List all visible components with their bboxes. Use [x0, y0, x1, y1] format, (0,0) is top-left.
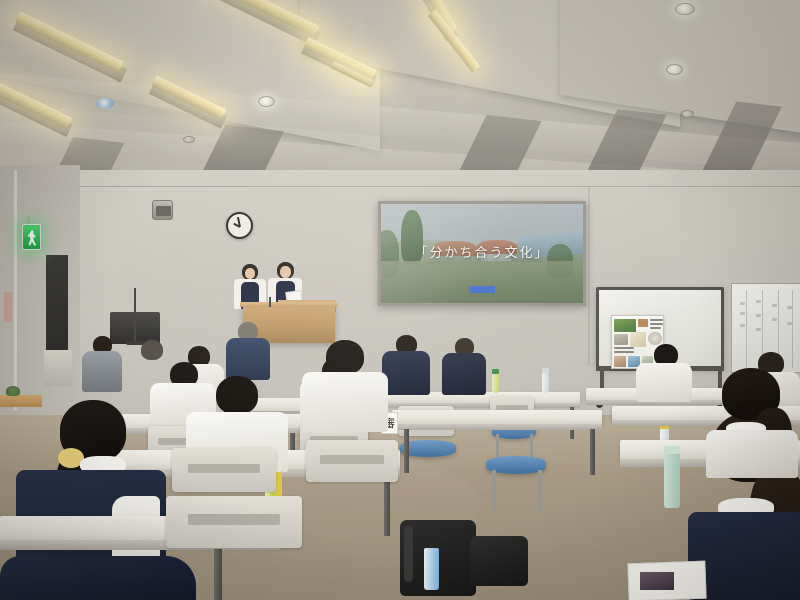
- potted-plant: [6, 386, 20, 396]
- wall-seam: [588, 186, 590, 366]
- poster-text-block: [614, 347, 634, 349]
- person-torso: [636, 363, 692, 402]
- classroom-presentation-photo: 「分かち合う文化」: [0, 0, 800, 600]
- floor-cabinet: [44, 350, 72, 386]
- whiteboard-writing: [772, 304, 777, 307]
- whiteboard-writing: [787, 306, 792, 309]
- wall-clock: [226, 212, 253, 239]
- stacking-chair[interactable]: [172, 448, 276, 492]
- emergency-exit-sign: [22, 224, 41, 250]
- stacking-chair[interactable]: [166, 496, 302, 548]
- foreground-shoulder: [0, 556, 196, 600]
- poster-photo: [638, 319, 648, 327]
- podium-top: [240, 302, 338, 307]
- person-torso: [226, 338, 270, 380]
- screen-glare: [381, 204, 583, 303]
- audience-student: [636, 344, 692, 402]
- table-leg: [384, 476, 390, 536]
- audience-student: [226, 322, 270, 380]
- water-bottle: [424, 548, 439, 590]
- mint-thermos: [664, 452, 680, 508]
- poster-text-block: [614, 351, 634, 353]
- whiteboard-writing: [756, 328, 761, 331]
- table-leg: [590, 429, 595, 475]
- seminar-table: [392, 410, 602, 425]
- audience-adult: [382, 335, 430, 395]
- chair-leg: [538, 470, 542, 512]
- person-torso: [382, 351, 430, 395]
- indicator-light: [96, 98, 114, 109]
- photo-print: [640, 572, 674, 590]
- wall-speaker: [152, 200, 173, 220]
- person-head: [326, 340, 364, 374]
- wall-notice: [4, 292, 12, 322]
- podium-microphone: [269, 297, 271, 307]
- poster-text-block: [650, 327, 661, 329]
- water-bottle: [542, 372, 549, 393]
- table-edge: [392, 424, 602, 430]
- audience-adult: [442, 338, 486, 395]
- presenter-face: [280, 266, 291, 278]
- chair-leg: [492, 470, 496, 510]
- speaker-grille: [156, 206, 171, 216]
- stacking-chair[interactable]: [306, 440, 398, 482]
- poster-photo: [614, 356, 626, 367]
- person-torso: [442, 353, 486, 395]
- bottle-cap: [492, 369, 499, 374]
- table-leg: [404, 429, 409, 473]
- smoke-detector: [183, 136, 195, 143]
- poster-photo: [614, 334, 628, 345]
- poster-text-block: [650, 319, 663, 321]
- whiteboard-writing: [756, 300, 761, 303]
- whiteboard-writing: [740, 324, 745, 327]
- poster-photo: [614, 319, 636, 332]
- whiteboard-writing: [740, 312, 745, 315]
- whiteboard-writing: [740, 302, 745, 305]
- backpack-strap: [404, 526, 413, 582]
- left-pillar-edge: [14, 170, 17, 410]
- person-torso: [302, 372, 388, 432]
- microphone-stand: [134, 288, 136, 344]
- smoke-detector: [681, 110, 694, 118]
- whiteboard-writing: [772, 318, 777, 321]
- recessed-downlight: [666, 64, 683, 75]
- running-person-icon: [28, 230, 37, 246]
- black-bag: [470, 536, 528, 586]
- person-torso: [706, 430, 798, 478]
- presenter-face: [245, 268, 255, 279]
- recessed-downlight: [258, 96, 275, 107]
- wall-seam: [0, 186, 800, 187]
- whiteboard-writing: [787, 322, 792, 325]
- projection-screen: 「分かち合う文化」: [381, 204, 583, 303]
- poster-text-block: [650, 323, 663, 325]
- person-torso: [82, 351, 122, 392]
- audience-observer: [82, 336, 122, 392]
- green-tea-bottle: [492, 373, 499, 393]
- recessed-downlight: [675, 3, 695, 15]
- thermos-cap: [664, 446, 680, 454]
- table-leg: [214, 549, 222, 600]
- whiteboard-writing: [756, 314, 761, 317]
- midground-student-right: [700, 368, 800, 478]
- bottle-cap: [542, 368, 549, 373]
- audience-student: [302, 340, 388, 432]
